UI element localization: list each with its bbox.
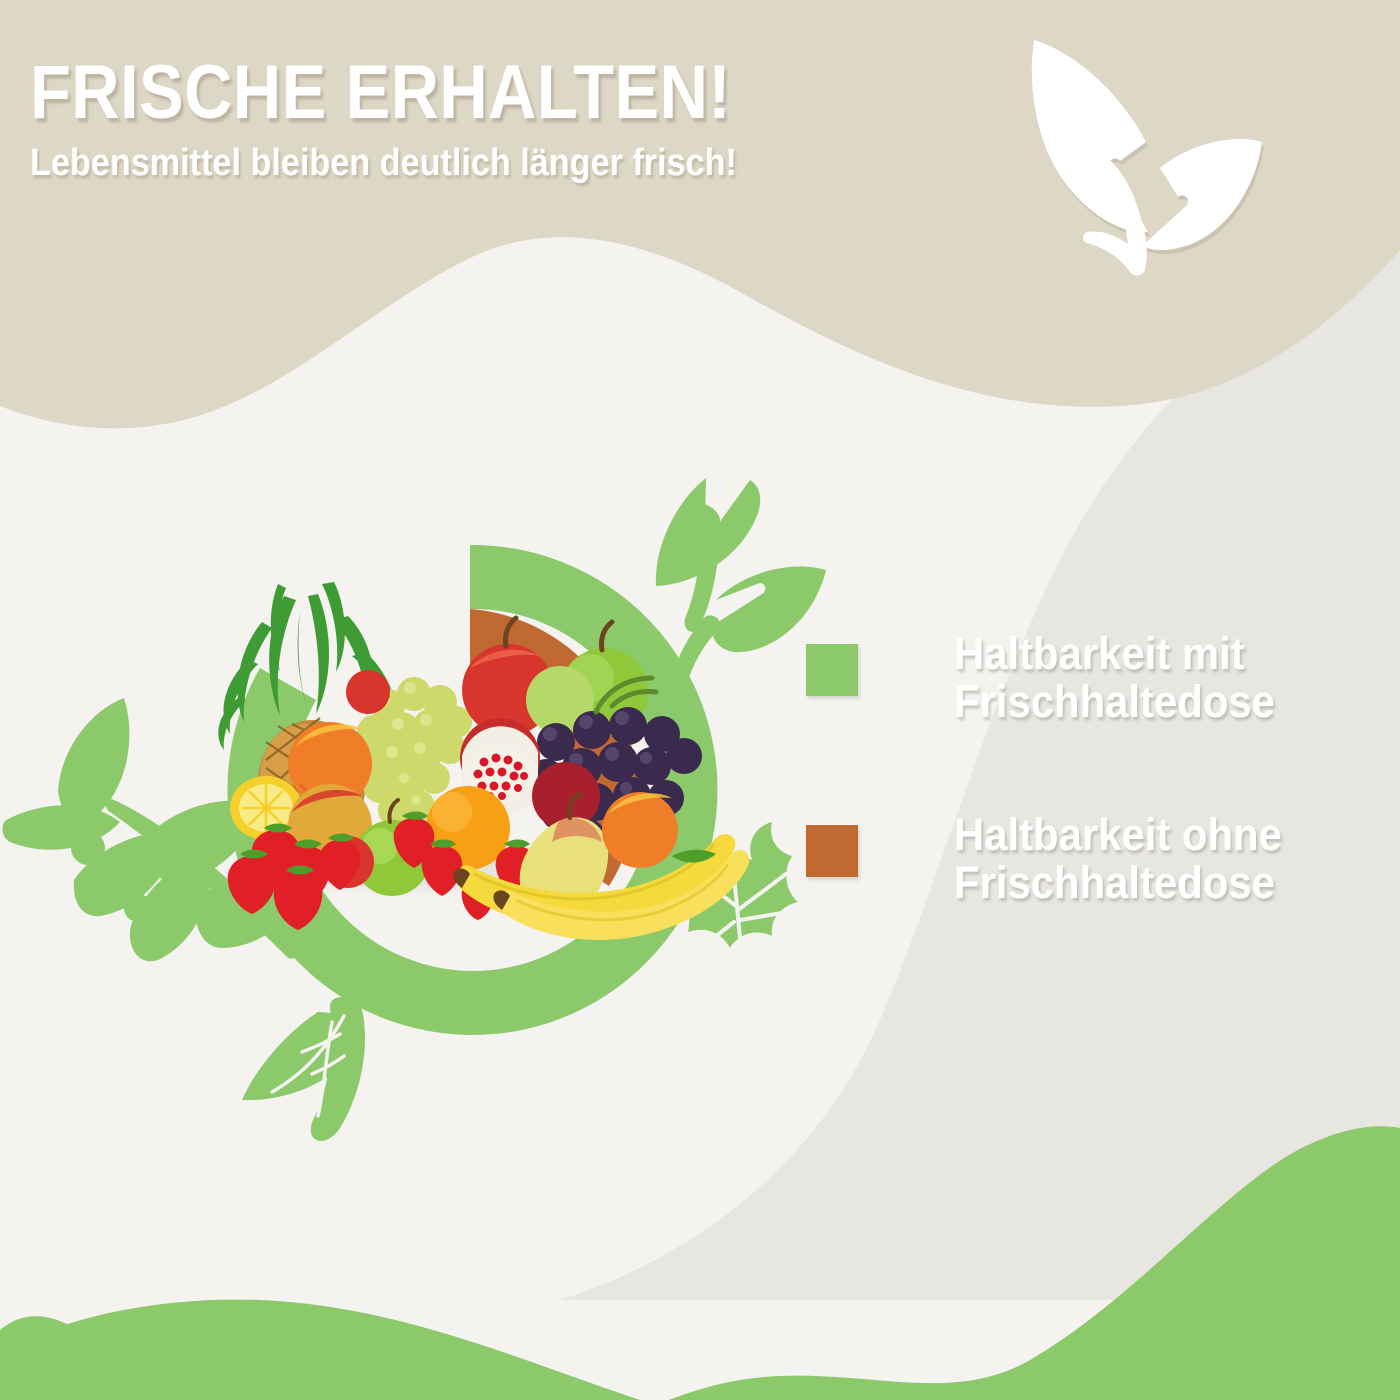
legend-item-mit[interactable]: Haltbarkeit mit Frischhaltedose: [806, 630, 1366, 725]
legend-label-mit: Haltbarkeit mit Frischhaltedose: [954, 630, 1275, 725]
red-apple-mid: [346, 670, 390, 714]
legend-label-ohne-line2: Frischhaltedose: [954, 857, 1275, 908]
legend-label-mit-line2: Frischhaltedose: [954, 676, 1275, 727]
green-square-swatch: [806, 644, 858, 696]
legend-item-ohne[interactable]: Haltbarkeit ohne Frischhaltedose: [806, 811, 1366, 906]
leaf-sprig-top-right-icon: [656, 478, 826, 689]
page-subtitle: Lebensmittel bleiben deutlich länger fri…: [30, 144, 840, 184]
brown-square-swatch: [806, 825, 858, 877]
header-block: FRISCHE ERHALTEN! Lebensmittel bleiben d…: [30, 56, 930, 184]
legend-label-ohne: Haltbarkeit ohne Frischhaltedose: [954, 811, 1282, 906]
infographic-canvas: FRISCHE ERHALTEN! Lebensmittel bleiben d…: [0, 0, 1400, 1400]
long-leaves-bottom-icon: [242, 997, 365, 1141]
leaf-sprig-icon: [1032, 40, 1264, 276]
chart-legend: Haltbarkeit mit Frischhaltedose Haltbark…: [806, 630, 1366, 993]
legend-label-ohne-line1: Haltbarkeit ohne: [954, 809, 1282, 860]
legend-label-mit-line1: Haltbarkeit mit: [954, 628, 1245, 679]
page-title: FRISCHE ERHALTEN!: [30, 56, 822, 130]
peach-right: [602, 792, 678, 868]
